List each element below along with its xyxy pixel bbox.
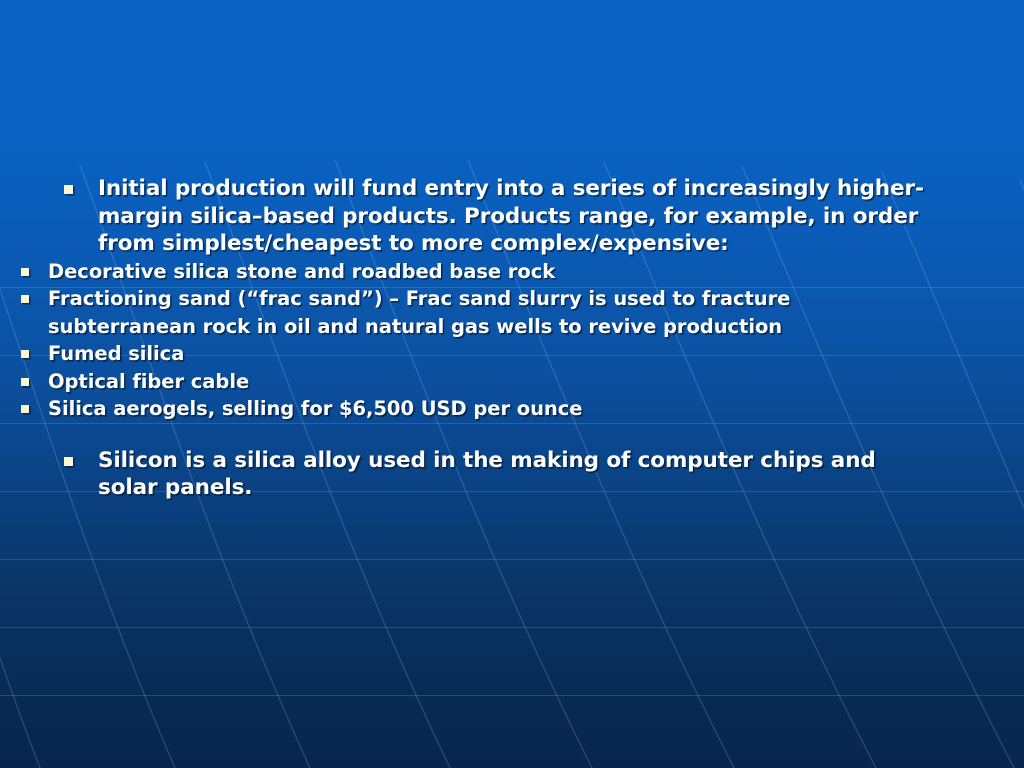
bullet-item-silica-aerogels: Silica aerogels, selling for $6,500 USD …: [48, 395, 848, 423]
square-bullet-icon: [64, 185, 73, 194]
presentation-slide: Initial production will fund entry into …: [0, 0, 1024, 768]
background-latitude-line: [0, 559, 1024, 560]
background-latitude-line: [0, 695, 1024, 696]
bullet-text: Initial production will fund entry into …: [98, 176, 924, 256]
bullet-item-silicon-alloy: Silicon is a silica alloy used in the ma…: [98, 447, 938, 502]
bullet-item-decorative-stone: Decorative silica stone and roadbed base…: [48, 258, 848, 286]
bullet-list-level-1: Initial production will fund entry into …: [0, 175, 1024, 502]
square-bullet-icon: [64, 457, 73, 466]
bullet-text: Silicon is a silica alloy used in the ma…: [98, 448, 876, 501]
background-latitude-line: [0, 627, 1024, 628]
paragraph-spacer: [0, 423, 1024, 447]
square-bullet-icon: [21, 295, 29, 303]
bullet-item-intro: Initial production will fund entry into …: [98, 175, 938, 258]
square-bullet-icon: [21, 268, 29, 276]
slide-body-text: Initial production will fund entry into …: [0, 175, 1024, 502]
bullet-item-optical-fiber: Optical fiber cable: [48, 368, 848, 396]
bullet-text: Silica aerogels, selling for $6,500 USD …: [48, 397, 582, 420]
bullet-text: Decorative silica stone and roadbed base…: [48, 260, 555, 283]
square-bullet-icon: [21, 405, 29, 413]
square-bullet-icon: [21, 378, 29, 386]
bullet-text: Optical fiber cable: [48, 370, 249, 393]
square-bullet-icon: [21, 350, 29, 358]
bullet-text: Fumed silica: [48, 342, 184, 365]
bullet-item-frac-sand: Fractioning sand (“frac sand”) – Frac sa…: [48, 285, 848, 340]
bullet-item-fumed-silica: Fumed silica: [48, 340, 848, 368]
bullet-list-level-2: Decorative silica stone and roadbed base…: [0, 258, 1024, 423]
bullet-text: Fractioning sand (“frac sand”) – Frac sa…: [48, 287, 790, 338]
bullet-sublist-container: Decorative silica stone and roadbed base…: [0, 258, 1024, 423]
